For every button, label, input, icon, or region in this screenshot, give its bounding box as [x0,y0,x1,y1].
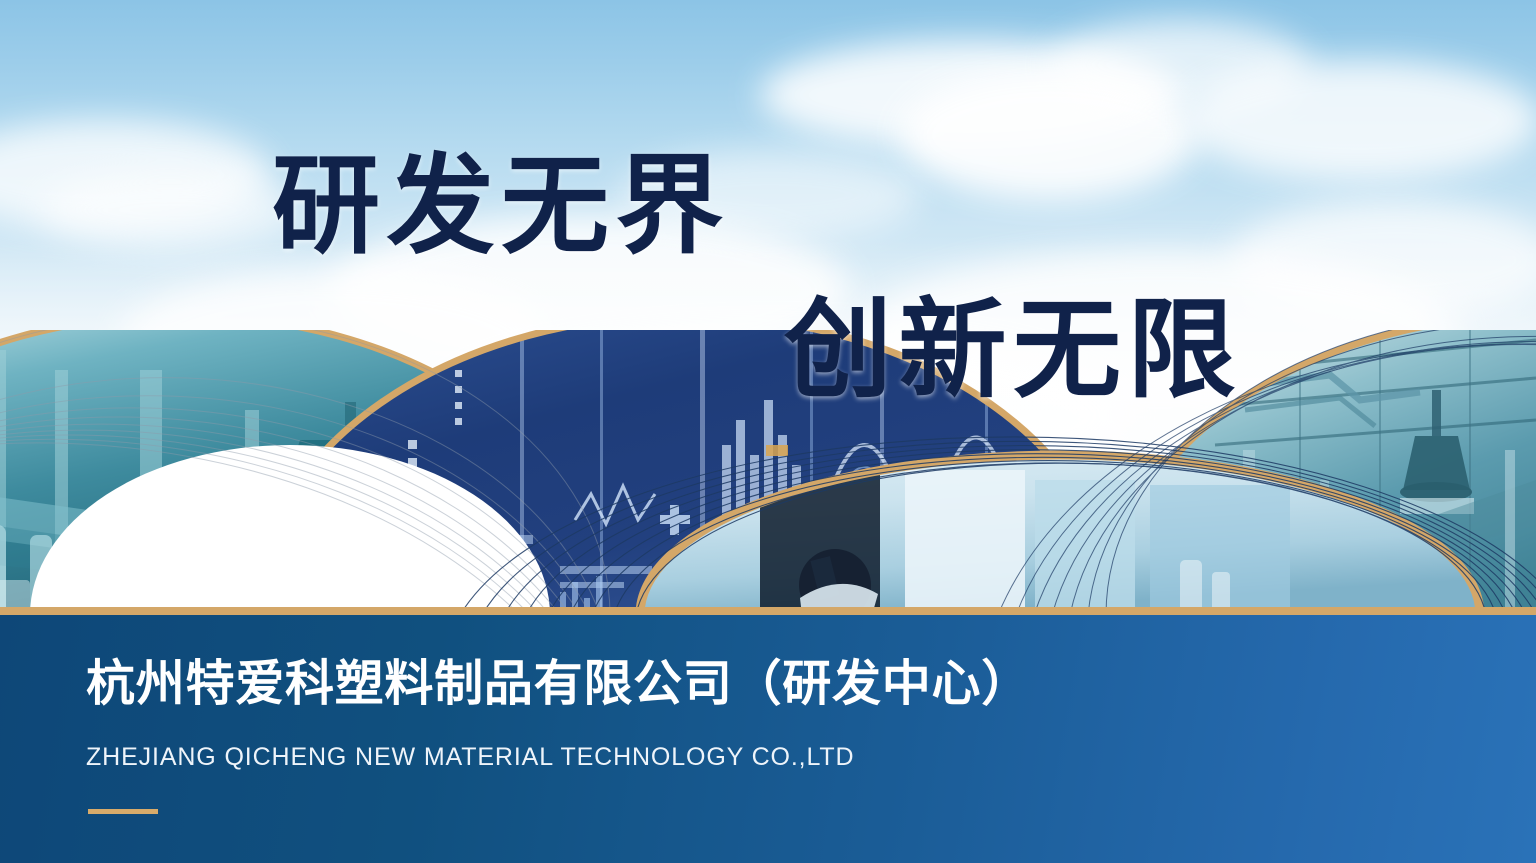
title-line-2: 创新无限 [784,296,1242,404]
gold-separator-band [0,607,1536,615]
title-line-1: 研发无界 [272,152,730,260]
title-block: 研发无界 创新无限 [0,0,1536,620]
company-name-en: ZHEJIANG QICHENG NEW MATERIAL TECHNOLOGY… [86,745,854,770]
footer-band [0,615,1536,863]
footer-accent-rule [88,809,158,814]
company-name-cn: 杭州特爱科塑料制品有限公司（研发中心） [86,660,1031,709]
presentation-cover-slide: 研发无界 创新无限 杭州特爱科塑料制品有限公司（研发中心） ZHEJIANG Q… [0,0,1536,863]
